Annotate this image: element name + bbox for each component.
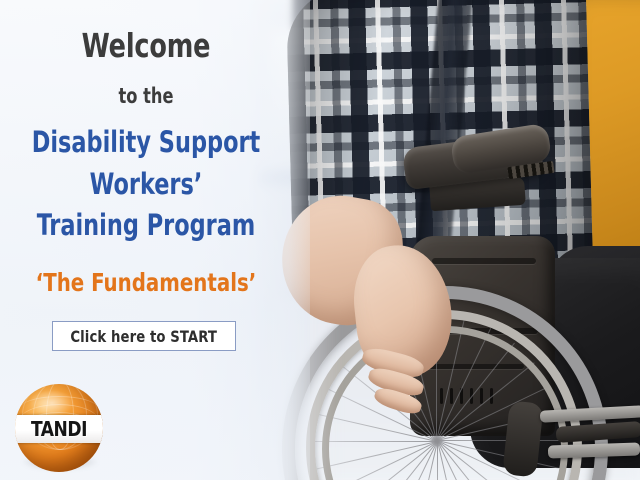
- program-title-line-3: Training Program: [20, 211, 271, 240]
- globe-sphere-icon: TANDI: [15, 384, 103, 472]
- welcome-slide: Welcome to the Disability Support Worker…: [0, 0, 640, 480]
- start-button-label: Click here to START: [71, 327, 218, 346]
- welcome-heading: Welcome: [20, 26, 271, 65]
- to-the-text: to the: [20, 84, 271, 108]
- tandi-logo[interactable]: TANDI: [12, 382, 106, 476]
- panel-groove: [432, 258, 536, 264]
- program-title-line-2: Workers’: [20, 170, 271, 199]
- program-subtitle: ‘The Fundamentals’: [18, 268, 275, 297]
- program-title-line-1: Disability Support: [20, 128, 271, 157]
- logo-wordmark: TANDI: [17, 417, 101, 441]
- start-button[interactable]: Click here to START: [52, 321, 236, 351]
